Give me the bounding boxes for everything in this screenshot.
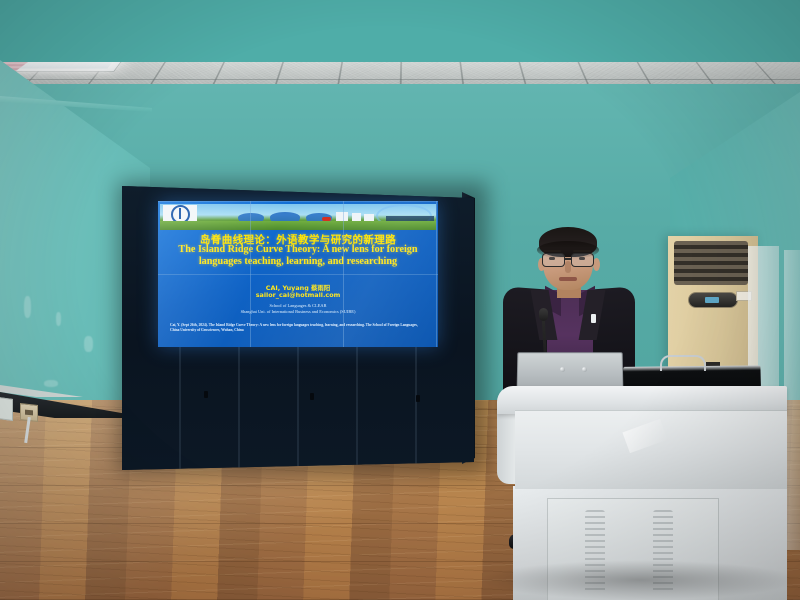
slide-citation: Cai, Y. (Sept 26th, 2024). The Island Ri… <box>170 323 426 333</box>
banner-lawn <box>160 221 436 230</box>
podium-left-side <box>497 410 517 484</box>
presenter-mouth <box>559 277 577 281</box>
laptop-screw-icon <box>582 367 587 372</box>
lapel-pin-icon <box>591 314 596 323</box>
slide-affiliation: School of Languages & CLEAR Shanghai Uni… <box>158 303 438 315</box>
cabinet-panel-seams <box>122 340 474 470</box>
laptop-screw-icon <box>560 367 565 372</box>
slide-email: sailor_cai@hotmail.com <box>158 291 438 299</box>
wall-scuff <box>44 380 58 387</box>
presenter-nose <box>565 261 571 273</box>
wall-plate <box>0 397 13 421</box>
led-video-wall[interactable]: 岛脊曲线理论：外语教学与研究的新理路 The Island Ridge Curv… <box>122 186 474 470</box>
microphone-icon[interactable] <box>539 308 548 321</box>
ac-vent-grille-icon <box>674 241 748 285</box>
presentation-slide: 岛脊曲线理论：外语教学与研究的新理路 The Island Ridge Curv… <box>158 201 438 347</box>
wall-scuff <box>84 336 93 352</box>
wall-scuff <box>24 296 31 318</box>
podium-front-panel <box>515 410 787 489</box>
laptop[interactable] <box>517 352 624 390</box>
ac-control-panel[interactable] <box>688 292 738 308</box>
cabinet-latch[interactable] <box>416 395 420 402</box>
wall-scuff <box>56 312 61 326</box>
slide-english-title: The Island Ridge Curve Theory: A new len… <box>166 244 430 267</box>
monitor-handle[interactable] <box>660 355 706 371</box>
lecture-hall-photo: 岛脊曲线理论：外语教学与研究的新理路 The Island Ridge Curv… <box>0 0 800 600</box>
affiliation-line-2: Shanghai Uni. of International Business … <box>158 309 438 315</box>
slide-header-banner <box>160 204 436 230</box>
cabinet-latch[interactable] <box>310 393 314 400</box>
cabinet-latch[interactable] <box>204 391 208 398</box>
podium-floor-shadow <box>480 560 800 600</box>
